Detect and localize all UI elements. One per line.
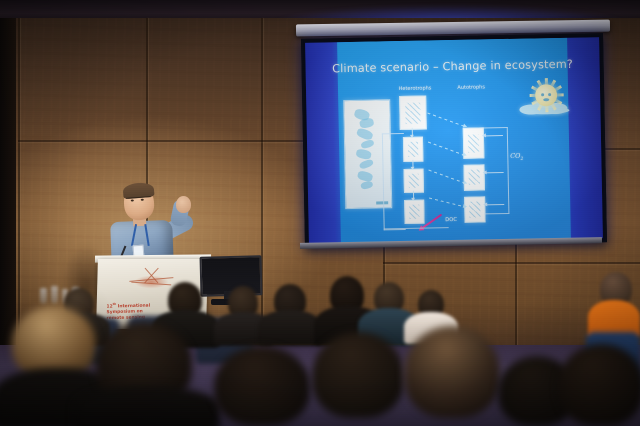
label-heterotrophs: Heterotrophs (399, 86, 432, 93)
label-autotrophs: Autotrophs (457, 85, 485, 92)
projection-screen: Climate scenario – Change in ecosystem? … (301, 33, 607, 248)
flow-arrow (412, 128, 413, 137)
audience-head-front (404, 326, 500, 418)
audience-head-front (312, 332, 404, 418)
sun-icon (529, 78, 564, 113)
drinking-glass (51, 286, 58, 304)
screenshot-root: Climate scenario – Change in ecosystem? … (0, 0, 640, 426)
wall-left-edge (0, 18, 16, 348)
flow-bracket (382, 133, 406, 230)
autotroph-box (463, 164, 485, 191)
autotroph-box (464, 196, 486, 223)
label-co2: CO2 (510, 151, 523, 162)
speaker-hand-raised (176, 196, 191, 213)
heterotroph-box (399, 96, 427, 131)
drinking-glass (40, 288, 47, 304)
heterotroph-box (404, 199, 424, 223)
flow-arrow (413, 191, 414, 200)
audience-head-front (558, 344, 640, 426)
audience-shoulders-front (74, 386, 220, 426)
heterotroph-box (404, 168, 424, 192)
slide-surface: Climate scenario – Change in ecosystem? … (305, 37, 603, 244)
audience-shoulders (258, 310, 322, 346)
label-doc: DOC (445, 217, 457, 223)
heterotroph-box (403, 137, 423, 161)
audience-head-front (214, 346, 310, 426)
flow-arrow (412, 159, 413, 168)
co2-bracket (483, 127, 509, 214)
